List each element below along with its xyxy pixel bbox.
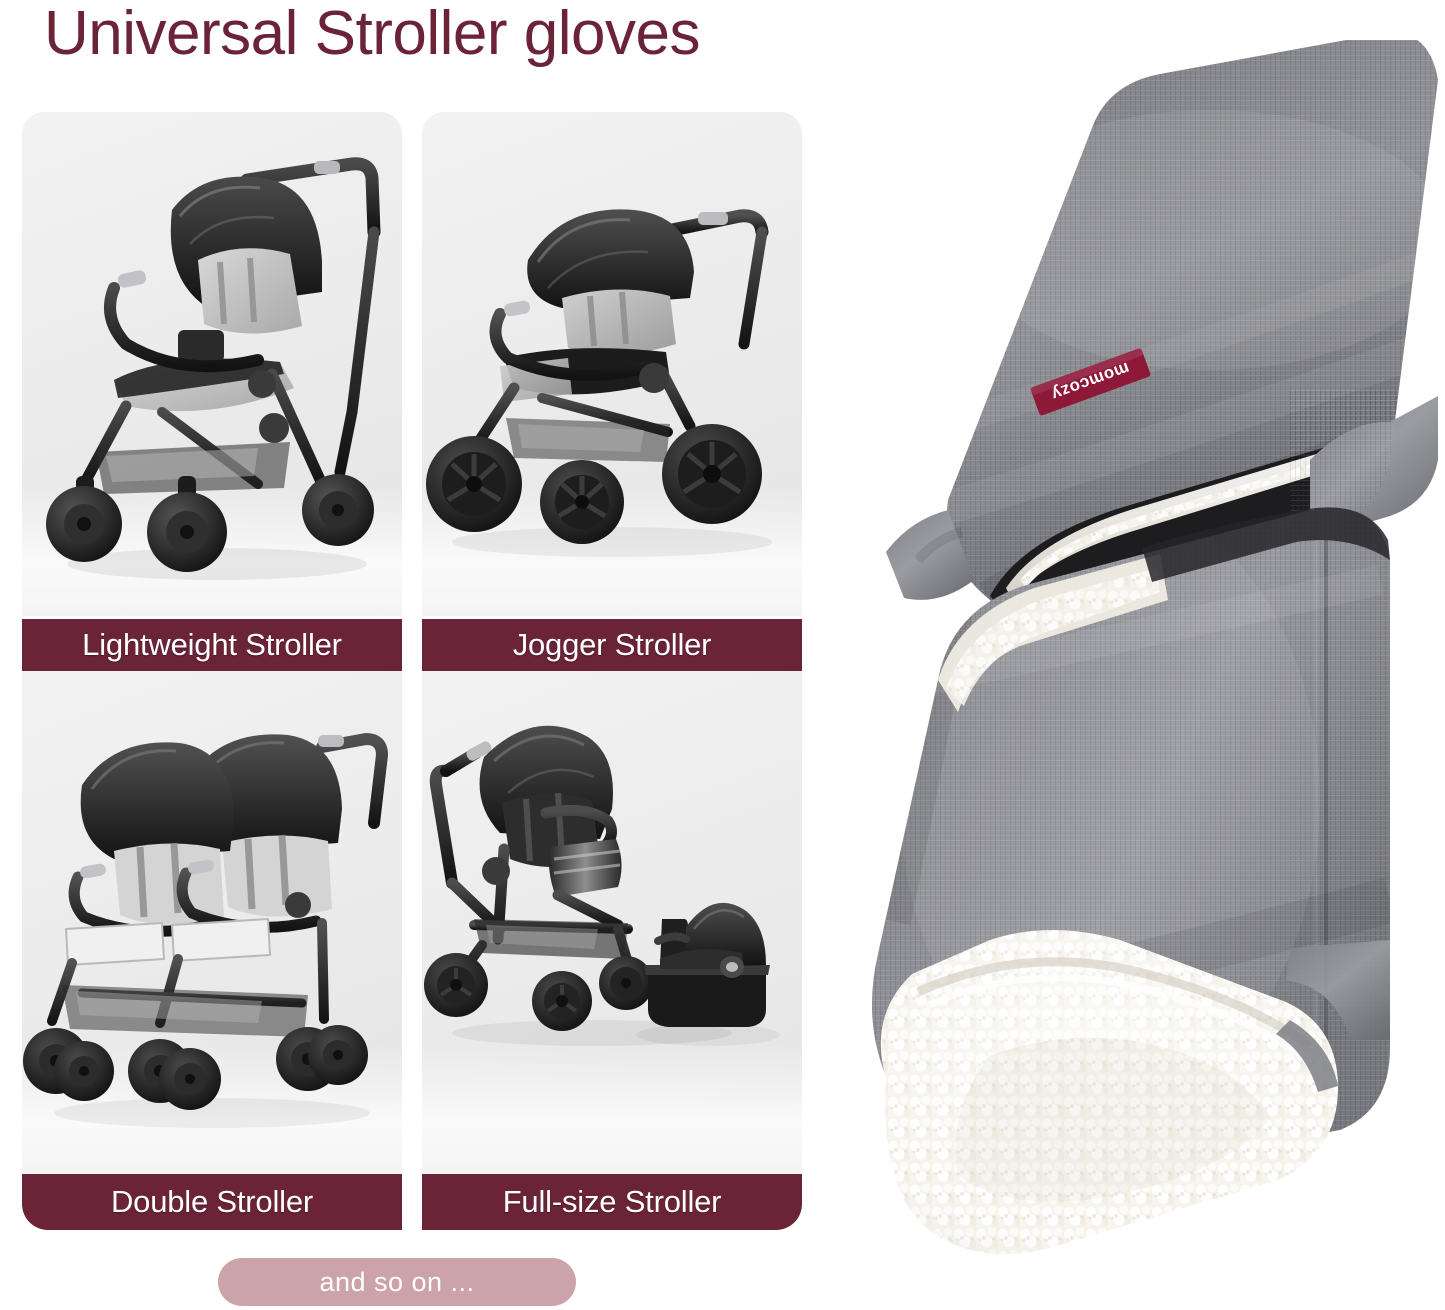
stroller-hand-muff-gloves-photo: momcozy: [690, 40, 1445, 1295]
stroller-card-label-lightweight: Lightweight Stroller: [22, 619, 402, 671]
stroller-card-double[interactable]: Double Stroller: [22, 671, 402, 1230]
svg-text:momcozy: momcozy: [1049, 359, 1133, 405]
lightweight-stroller-photo: [22, 112, 402, 616]
stroller-card-fullsize[interactable]: Full-size Stroller: [422, 671, 802, 1230]
lightweight-stroller-art: [22, 112, 402, 616]
stroller-card-label-jogger: Jogger Stroller: [422, 619, 802, 671]
double-stroller-art: [22, 671, 402, 1175]
stroller-card-label-fullsize: Full-size Stroller: [422, 1174, 802, 1230]
brand-tag: momcozy: [1030, 348, 1151, 417]
glove-lower: [840, 480, 1445, 1254]
jogger-stroller-art: [422, 112, 802, 616]
glove-upper: momcozy: [886, 40, 1445, 660]
sherpa-cuff: [881, 930, 1338, 1254]
jogger-stroller-photo: [422, 112, 802, 616]
stroller-card-jogger[interactable]: Jogger Stroller: [422, 112, 802, 671]
double-stroller-photo: [22, 671, 402, 1175]
full-size-stroller-art: [422, 671, 802, 1175]
full-size-stroller-photo: [422, 671, 802, 1175]
stroller-type-grid: Lightweight Stroller: [22, 112, 802, 1230]
and-so-on-pill[interactable]: and so on ...: [218, 1258, 576, 1306]
stroller-card-lightweight[interactable]: Lightweight Stroller: [22, 112, 402, 671]
stroller-card-label-double: Double Stroller: [22, 1174, 402, 1230]
page-title: Universal Stroller gloves: [44, 0, 700, 69]
